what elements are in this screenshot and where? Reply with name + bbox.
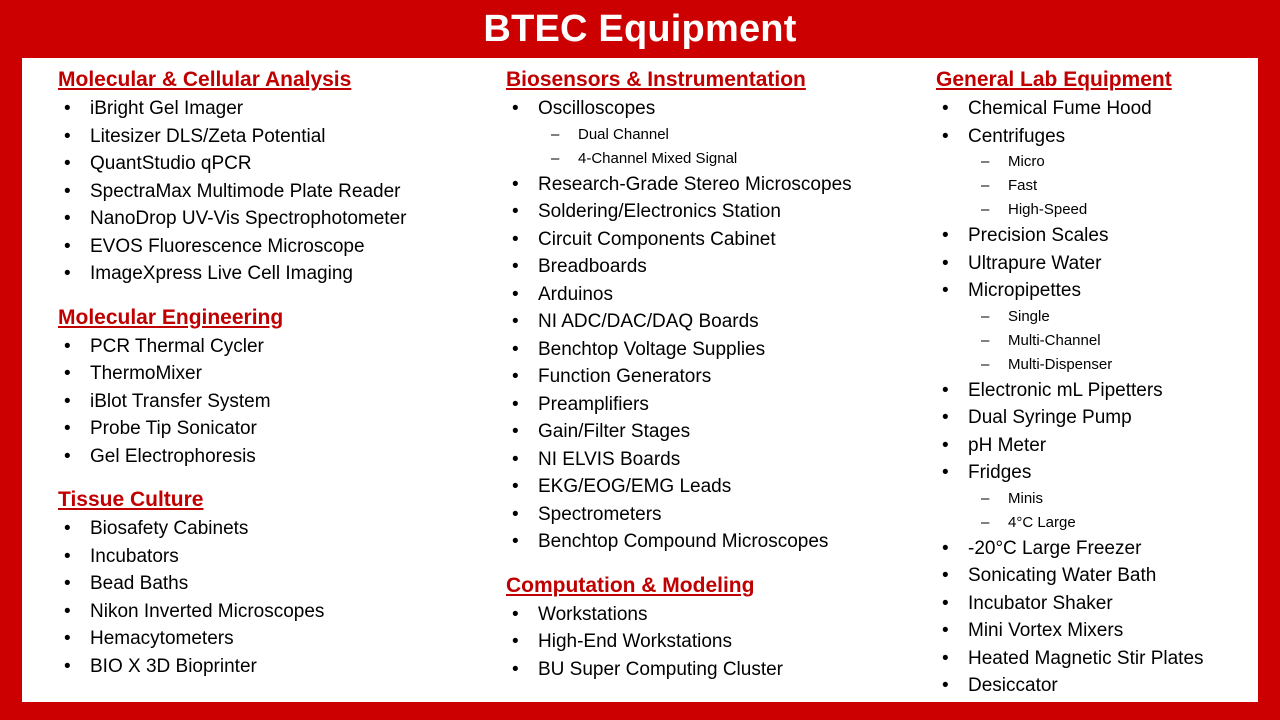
dash-bullet-icon: – bbox=[981, 487, 989, 511]
list-item-label: NI ELVIS Boards bbox=[538, 449, 680, 470]
bullet-icon: • bbox=[512, 418, 519, 446]
equipment-list: •Workstations•High-End Workstations•BU S… bbox=[506, 601, 926, 684]
list-item-label: SpectraMax Multimode Plate Reader bbox=[90, 181, 400, 202]
equipment-section: Biosensors & Instrumentation•Oscilloscop… bbox=[506, 66, 926, 556]
list-item-label: Function Generators bbox=[538, 366, 711, 387]
list-item: •Oscilloscopes bbox=[506, 95, 926, 123]
list-item-label: PCR Thermal Cycler bbox=[90, 336, 264, 357]
section-heading: Molecular & Cellular Analysis bbox=[58, 66, 498, 94]
page-title: BTEC Equipment bbox=[483, 10, 796, 48]
section-heading: Tissue Culture bbox=[58, 486, 498, 514]
list-item: •Nikon Inverted Microscopes bbox=[58, 598, 498, 626]
list-item: •QuantStudio qPCR bbox=[58, 150, 498, 178]
sub-list-item: –Dual Channel bbox=[506, 123, 926, 147]
list-item: •Sonicating Water Bath bbox=[936, 562, 1256, 590]
list-item-label: Chemical Fume Hood bbox=[968, 98, 1152, 119]
sub-list-item: –Micro bbox=[936, 150, 1256, 174]
list-item-label: Ultrapure Water bbox=[968, 253, 1101, 274]
sub-list-item-label: 4°C Large bbox=[1008, 514, 1076, 531]
list-item: •Probe Tip Sonicator bbox=[58, 415, 498, 443]
list-item: •Hemacytometers bbox=[58, 625, 498, 653]
list-item: •NI ELVIS Boards bbox=[506, 446, 926, 474]
list-item: •ThermoMixer bbox=[58, 360, 498, 388]
list-item-label: BIO X 3D Bioprinter bbox=[90, 656, 257, 677]
list-item: •Precision Scales bbox=[936, 222, 1256, 250]
bullet-icon: • bbox=[64, 570, 71, 598]
list-item: •Desiccator bbox=[936, 672, 1256, 700]
equipment-section: Molecular & Cellular Analysis•iBright Ge… bbox=[58, 66, 498, 288]
list-item: •Centrifuges bbox=[936, 123, 1256, 151]
bullet-icon: • bbox=[942, 277, 949, 305]
list-item: •High-End Workstations bbox=[506, 628, 926, 656]
dash-bullet-icon: – bbox=[981, 150, 989, 174]
list-item: •Bead Baths bbox=[58, 570, 498, 598]
list-item-label: Micropipettes bbox=[968, 280, 1081, 301]
bullet-icon: • bbox=[942, 404, 949, 432]
list-item-label: Oscilloscopes bbox=[538, 98, 655, 119]
list-item: •BU Super Computing Cluster bbox=[506, 656, 926, 684]
list-item: •BIO X 3D Bioprinter bbox=[58, 653, 498, 681]
bullet-icon: • bbox=[64, 443, 71, 471]
bullet-icon: • bbox=[512, 391, 519, 419]
equipment-list: •PCR Thermal Cycler•ThermoMixer•iBlot Tr… bbox=[58, 333, 498, 471]
bullet-icon: • bbox=[512, 656, 519, 684]
list-item: •Workstations bbox=[506, 601, 926, 629]
list-item: •Circuit Components Cabinet bbox=[506, 226, 926, 254]
list-item: •Breadboards bbox=[506, 253, 926, 281]
bullet-icon: • bbox=[64, 543, 71, 571]
list-item-label: -20°C Large Freezer bbox=[968, 538, 1141, 559]
equipment-list: •iBright Gel Imager•Litesizer DLS/Zeta P… bbox=[58, 95, 498, 288]
list-item: •Preamplifiers bbox=[506, 391, 926, 419]
sub-list-item-label: Minis bbox=[1008, 490, 1043, 507]
equipment-column-2: Biosensors & Instrumentation•Oscilloscop… bbox=[506, 66, 926, 683]
bullet-icon: • bbox=[942, 672, 949, 700]
bullet-icon: • bbox=[512, 171, 519, 199]
equipment-sublist: –Dual Channel–4-Channel Mixed Signal bbox=[506, 123, 926, 171]
bullet-icon: • bbox=[64, 95, 71, 123]
bullet-icon: • bbox=[64, 150, 71, 178]
bullet-icon: • bbox=[512, 363, 519, 391]
list-item: •SpectraMax Multimode Plate Reader bbox=[58, 178, 498, 206]
sub-list-item-label: 4-Channel Mixed Signal bbox=[578, 150, 737, 167]
list-item-label: Circuit Components Cabinet bbox=[538, 229, 776, 250]
content-panel: Molecular & Cellular Analysis•iBright Ge… bbox=[22, 58, 1258, 702]
list-item: •Ultrapure Water bbox=[936, 250, 1256, 278]
bullet-icon: • bbox=[942, 535, 949, 563]
list-item-label: Research-Grade Stereo Microscopes bbox=[538, 174, 852, 195]
list-item: •Chemical Fume Hood bbox=[936, 95, 1256, 123]
sub-list-item: –Minis bbox=[936, 487, 1256, 511]
list-item: •Spectrometers bbox=[506, 501, 926, 529]
list-item-label: Gel Electrophoresis bbox=[90, 446, 256, 467]
bullet-icon: • bbox=[512, 336, 519, 364]
bullet-icon: • bbox=[64, 333, 71, 361]
sub-list-item: –Single bbox=[936, 305, 1256, 329]
bullet-icon: • bbox=[942, 617, 949, 645]
bullet-icon: • bbox=[942, 432, 949, 460]
bullet-icon: • bbox=[64, 625, 71, 653]
bullet-icon: • bbox=[512, 281, 519, 309]
dash-bullet-icon: – bbox=[981, 329, 989, 353]
bullet-icon: • bbox=[942, 645, 949, 673]
list-item-label: Sonicating Water Bath bbox=[968, 565, 1156, 586]
bullet-icon: • bbox=[942, 590, 949, 618]
list-item-label: Probe Tip Sonicator bbox=[90, 418, 257, 439]
list-item-label: Desiccator bbox=[968, 675, 1058, 696]
list-item-label: Mini Vortex Mixers bbox=[968, 620, 1123, 641]
dash-bullet-icon: – bbox=[981, 174, 989, 198]
bullet-icon: • bbox=[512, 226, 519, 254]
sub-list-item-label: Multi-Channel bbox=[1008, 332, 1101, 349]
list-item: •Arduinos bbox=[506, 281, 926, 309]
list-item-label: Fridges bbox=[968, 462, 1031, 483]
equipment-sublist: –Micro–Fast–High-Speed bbox=[936, 150, 1256, 222]
list-item: •Incubators bbox=[58, 543, 498, 571]
bullet-icon: • bbox=[64, 123, 71, 151]
section-heading: Molecular Engineering bbox=[58, 304, 498, 332]
list-item-label: Litesizer DLS/Zeta Potential bbox=[90, 126, 326, 147]
bullet-icon: • bbox=[512, 528, 519, 556]
list-item-label: iBlot Transfer System bbox=[90, 391, 271, 412]
list-item-label: Spectrometers bbox=[538, 504, 662, 525]
list-item-label: NI ADC/DAC/DAQ Boards bbox=[538, 311, 759, 332]
list-item: •Micropipettes bbox=[936, 277, 1256, 305]
sub-list-item-label: High-Speed bbox=[1008, 201, 1087, 218]
list-item: •iBlot Transfer System bbox=[58, 388, 498, 416]
equipment-section: Tissue Culture•Biosafety Cabinets•Incuba… bbox=[58, 486, 498, 680]
bullet-icon: • bbox=[512, 473, 519, 501]
list-item: •Gain/Filter Stages bbox=[506, 418, 926, 446]
bullet-icon: • bbox=[64, 178, 71, 206]
list-item: •Gel Electrophoresis bbox=[58, 443, 498, 471]
list-item: •-20°C Large Freezer bbox=[936, 535, 1256, 563]
list-item-label: ImageXpress Live Cell Imaging bbox=[90, 263, 353, 284]
list-item-label: Hemacytometers bbox=[90, 628, 234, 649]
list-item: •Incubator Shaker bbox=[936, 590, 1256, 618]
list-item-label: Heated Magnetic Stir Plates bbox=[968, 648, 1204, 669]
equipment-sublist: –Single–Multi-Channel–Multi-Dispenser bbox=[936, 305, 1256, 377]
list-item: •Research-Grade Stereo Microscopes bbox=[506, 171, 926, 199]
bullet-icon: • bbox=[512, 501, 519, 529]
dash-bullet-icon: – bbox=[981, 353, 989, 377]
bullet-icon: • bbox=[512, 308, 519, 336]
bullet-icon: • bbox=[942, 123, 949, 151]
sub-list-item-label: Micro bbox=[1008, 153, 1045, 170]
bullet-icon: • bbox=[512, 253, 519, 281]
list-item-label: Incubator Shaker bbox=[968, 593, 1113, 614]
bullet-icon: • bbox=[64, 233, 71, 261]
bullet-icon: • bbox=[942, 377, 949, 405]
bullet-icon: • bbox=[942, 222, 949, 250]
list-item-label: QuantStudio qPCR bbox=[90, 153, 252, 174]
bullet-icon: • bbox=[512, 95, 519, 123]
list-item-label: Arduinos bbox=[538, 284, 613, 305]
sub-list-item-label: Dual Channel bbox=[578, 126, 669, 143]
list-item-label: pH Meter bbox=[968, 435, 1046, 456]
section-heading: Biosensors & Instrumentation bbox=[506, 66, 926, 94]
sub-list-item-label: Fast bbox=[1008, 177, 1037, 194]
list-item-label: Incubators bbox=[90, 546, 179, 567]
list-item: •Function Generators bbox=[506, 363, 926, 391]
list-item-label: Benchtop Compound Microscopes bbox=[538, 531, 828, 552]
list-item: •Benchtop Compound Microscopes bbox=[506, 528, 926, 556]
section-heading: Computation & Modeling bbox=[506, 572, 926, 600]
list-item-label: Benchtop Voltage Supplies bbox=[538, 339, 765, 360]
bullet-icon: • bbox=[942, 95, 949, 123]
list-item: •pH Meter bbox=[936, 432, 1256, 460]
equipment-list: •Biosafety Cabinets•Incubators•Bead Bath… bbox=[58, 515, 498, 680]
bullet-icon: • bbox=[64, 260, 71, 288]
equipment-section: General Lab Equipment•Chemical Fume Hood… bbox=[936, 66, 1256, 700]
sub-list-item-label: Single bbox=[1008, 308, 1050, 325]
list-item: •Mini Vortex Mixers bbox=[936, 617, 1256, 645]
sub-list-item: –4-Channel Mixed Signal bbox=[506, 147, 926, 171]
list-item: •Litesizer DLS/Zeta Potential bbox=[58, 123, 498, 151]
equipment-section: Computation & Modeling•Workstations•High… bbox=[506, 572, 926, 684]
list-item-label: Centrifuges bbox=[968, 126, 1065, 147]
equipment-list: •Chemical Fume Hood•Centrifuges–Micro–Fa… bbox=[936, 95, 1256, 700]
bullet-icon: • bbox=[942, 250, 949, 278]
equipment-column-3: General Lab Equipment•Chemical Fume Hood… bbox=[936, 66, 1256, 700]
equipment-section: Molecular Engineering•PCR Thermal Cycler… bbox=[58, 304, 498, 471]
list-item: •NanoDrop UV-Vis Spectrophotometer bbox=[58, 205, 498, 233]
dash-bullet-icon: – bbox=[981, 305, 989, 329]
bullet-icon: • bbox=[64, 360, 71, 388]
equipment-column-1: Molecular & Cellular Analysis•iBright Ge… bbox=[58, 66, 498, 680]
list-item-label: Biosafety Cabinets bbox=[90, 518, 248, 539]
list-item: •Benchtop Voltage Supplies bbox=[506, 336, 926, 364]
dash-bullet-icon: – bbox=[551, 123, 559, 147]
list-item-label: Soldering/Electronics Station bbox=[538, 201, 781, 222]
dash-bullet-icon: – bbox=[551, 147, 559, 171]
list-item: •EKG/EOG/EMG Leads bbox=[506, 473, 926, 501]
list-item: •Fridges bbox=[936, 459, 1256, 487]
list-item: •Soldering/Electronics Station bbox=[506, 198, 926, 226]
list-item: •EVOS Fluorescence Microscope bbox=[58, 233, 498, 261]
sub-list-item: –High-Speed bbox=[936, 198, 1256, 222]
list-item-label: Dual Syringe Pump bbox=[968, 407, 1132, 428]
list-item-label: Preamplifiers bbox=[538, 394, 649, 415]
list-item-label: NanoDrop UV-Vis Spectrophotometer bbox=[90, 208, 406, 229]
bullet-icon: • bbox=[512, 198, 519, 226]
list-item-label: High-End Workstations bbox=[538, 631, 732, 652]
list-item: •Biosafety Cabinets bbox=[58, 515, 498, 543]
section-heading: General Lab Equipment bbox=[936, 66, 1256, 94]
bullet-icon: • bbox=[64, 653, 71, 681]
list-item-label: ThermoMixer bbox=[90, 363, 202, 384]
bullet-icon: • bbox=[64, 415, 71, 443]
bullet-icon: • bbox=[64, 388, 71, 416]
sub-list-item: –Multi-Dispenser bbox=[936, 353, 1256, 377]
list-item-label: Precision Scales bbox=[968, 225, 1108, 246]
list-item-label: EVOS Fluorescence Microscope bbox=[90, 236, 365, 257]
bullet-icon: • bbox=[64, 205, 71, 233]
slide-title-bar: BTEC Equipment bbox=[0, 0, 1280, 58]
columns-container: Molecular & Cellular Analysis•iBright Ge… bbox=[22, 58, 1258, 702]
bullet-icon: • bbox=[512, 446, 519, 474]
sub-list-item: –4°C Large bbox=[936, 511, 1256, 535]
bullet-icon: • bbox=[942, 459, 949, 487]
equipment-list: •Oscilloscopes–Dual Channel–4-Channel Mi… bbox=[506, 95, 926, 556]
slide: BTEC Equipment Molecular & Cellular Anal… bbox=[0, 0, 1280, 720]
list-item-label: Gain/Filter Stages bbox=[538, 421, 690, 442]
equipment-sublist: –Minis–4°C Large bbox=[936, 487, 1256, 535]
dash-bullet-icon: – bbox=[981, 198, 989, 222]
list-item-label: iBright Gel Imager bbox=[90, 98, 243, 119]
sub-list-item-label: Multi-Dispenser bbox=[1008, 356, 1112, 373]
list-item: •Dual Syringe Pump bbox=[936, 404, 1256, 432]
sub-list-item: –Multi-Channel bbox=[936, 329, 1256, 353]
list-item: •ImageXpress Live Cell Imaging bbox=[58, 260, 498, 288]
list-item-label: Breadboards bbox=[538, 256, 647, 277]
list-item-label: Workstations bbox=[538, 604, 647, 625]
dash-bullet-icon: – bbox=[981, 511, 989, 535]
list-item-label: Bead Baths bbox=[90, 573, 188, 594]
bullet-icon: • bbox=[64, 515, 71, 543]
list-item: •PCR Thermal Cycler bbox=[58, 333, 498, 361]
list-item: •iBright Gel Imager bbox=[58, 95, 498, 123]
bullet-icon: • bbox=[942, 562, 949, 590]
list-item: •Electronic mL Pipetters bbox=[936, 377, 1256, 405]
list-item: •Heated Magnetic Stir Plates bbox=[936, 645, 1256, 673]
bullet-icon: • bbox=[64, 598, 71, 626]
bullet-icon: • bbox=[512, 628, 519, 656]
bullet-icon: • bbox=[512, 601, 519, 629]
list-item: •NI ADC/DAC/DAQ Boards bbox=[506, 308, 926, 336]
list-item-label: Electronic mL Pipetters bbox=[968, 380, 1163, 401]
list-item-label: EKG/EOG/EMG Leads bbox=[538, 476, 731, 497]
sub-list-item: –Fast bbox=[936, 174, 1256, 198]
list-item-label: BU Super Computing Cluster bbox=[538, 659, 783, 680]
list-item-label: Nikon Inverted Microscopes bbox=[90, 601, 324, 622]
